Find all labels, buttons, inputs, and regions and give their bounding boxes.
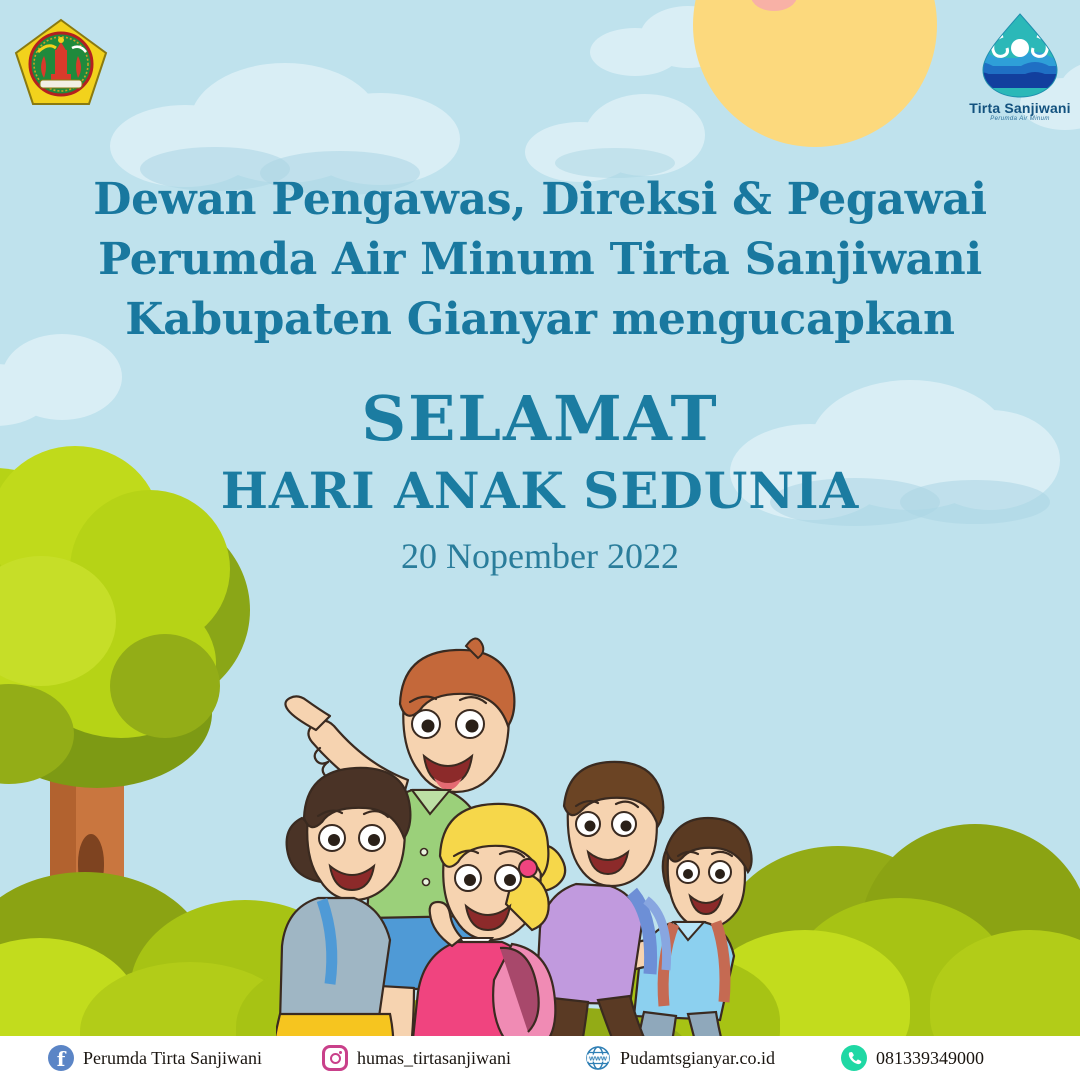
footer-item-instagram[interactable]: humas_tirtasanjiwani [322,1036,511,1080]
greeting-main: SELAMAT [0,380,1080,458]
footer-item-facebook[interactable]: f Perumda Tirta Sanjiwani [48,1036,262,1080]
greeting-text-block: Dewan Pengawas, Direksi & Pegawai Perumd… [0,170,1080,582]
phone-icon [841,1045,867,1071]
footer-website-label: Pudamtsgianyar.co.id [620,1048,775,1069]
children-illustration: .sk{fill:#f6d3b0;stroke:#3a2a20;stroke-w… [276,600,796,1060]
footer-contact-bar: f Perumda Tirta Sanjiwani humas_tirtasan… [0,1036,1080,1080]
logo-name: Tirta Sanjiwani [965,100,1075,116]
svg-text:www: www [588,1053,607,1062]
header-line-1: Dewan Pengawas, Direksi & Pegawai [0,170,1080,230]
tirta-sanjiwani-logo: Tirta Sanjiwani Perumda Air Minum [965,12,1075,130]
sun-illustration [660,0,970,180]
footer-item-website[interactable]: www Pudamtsgianyar.co.id [585,1036,775,1080]
website-globe-icon: www [585,1045,611,1071]
sun-cheek-left [751,0,797,11]
header-line-3: Kabupaten Gianyar mengucapkan [0,290,1080,350]
instagram-icon [322,1045,348,1071]
cloud-top-left [110,55,490,185]
header-line-2: Perumda Air Minum Tirta Sanjiwani [0,230,1080,290]
footer-phone-label: 081339349000 [876,1048,984,1069]
greeting-occasion: HARI ANAK SEDUNIA [0,458,1080,524]
gianyar-regency-emblem [14,18,108,106]
footer-instagram-label: humas_tirtasanjiwani [357,1048,511,1069]
footer-item-phone[interactable]: 081339349000 [841,1036,984,1080]
facebook-icon: f [48,1045,74,1071]
logo-subtitle: Perumda Air Minum [965,116,1075,122]
footer-facebook-label: Perumda Tirta Sanjiwani [83,1048,262,1069]
greeting-date: 20 Nopember 2022 [0,530,1080,582]
poster-canvas: .sk{fill:#f6d3b0;stroke:#3a2a20;stroke-w… [0,0,1080,1080]
